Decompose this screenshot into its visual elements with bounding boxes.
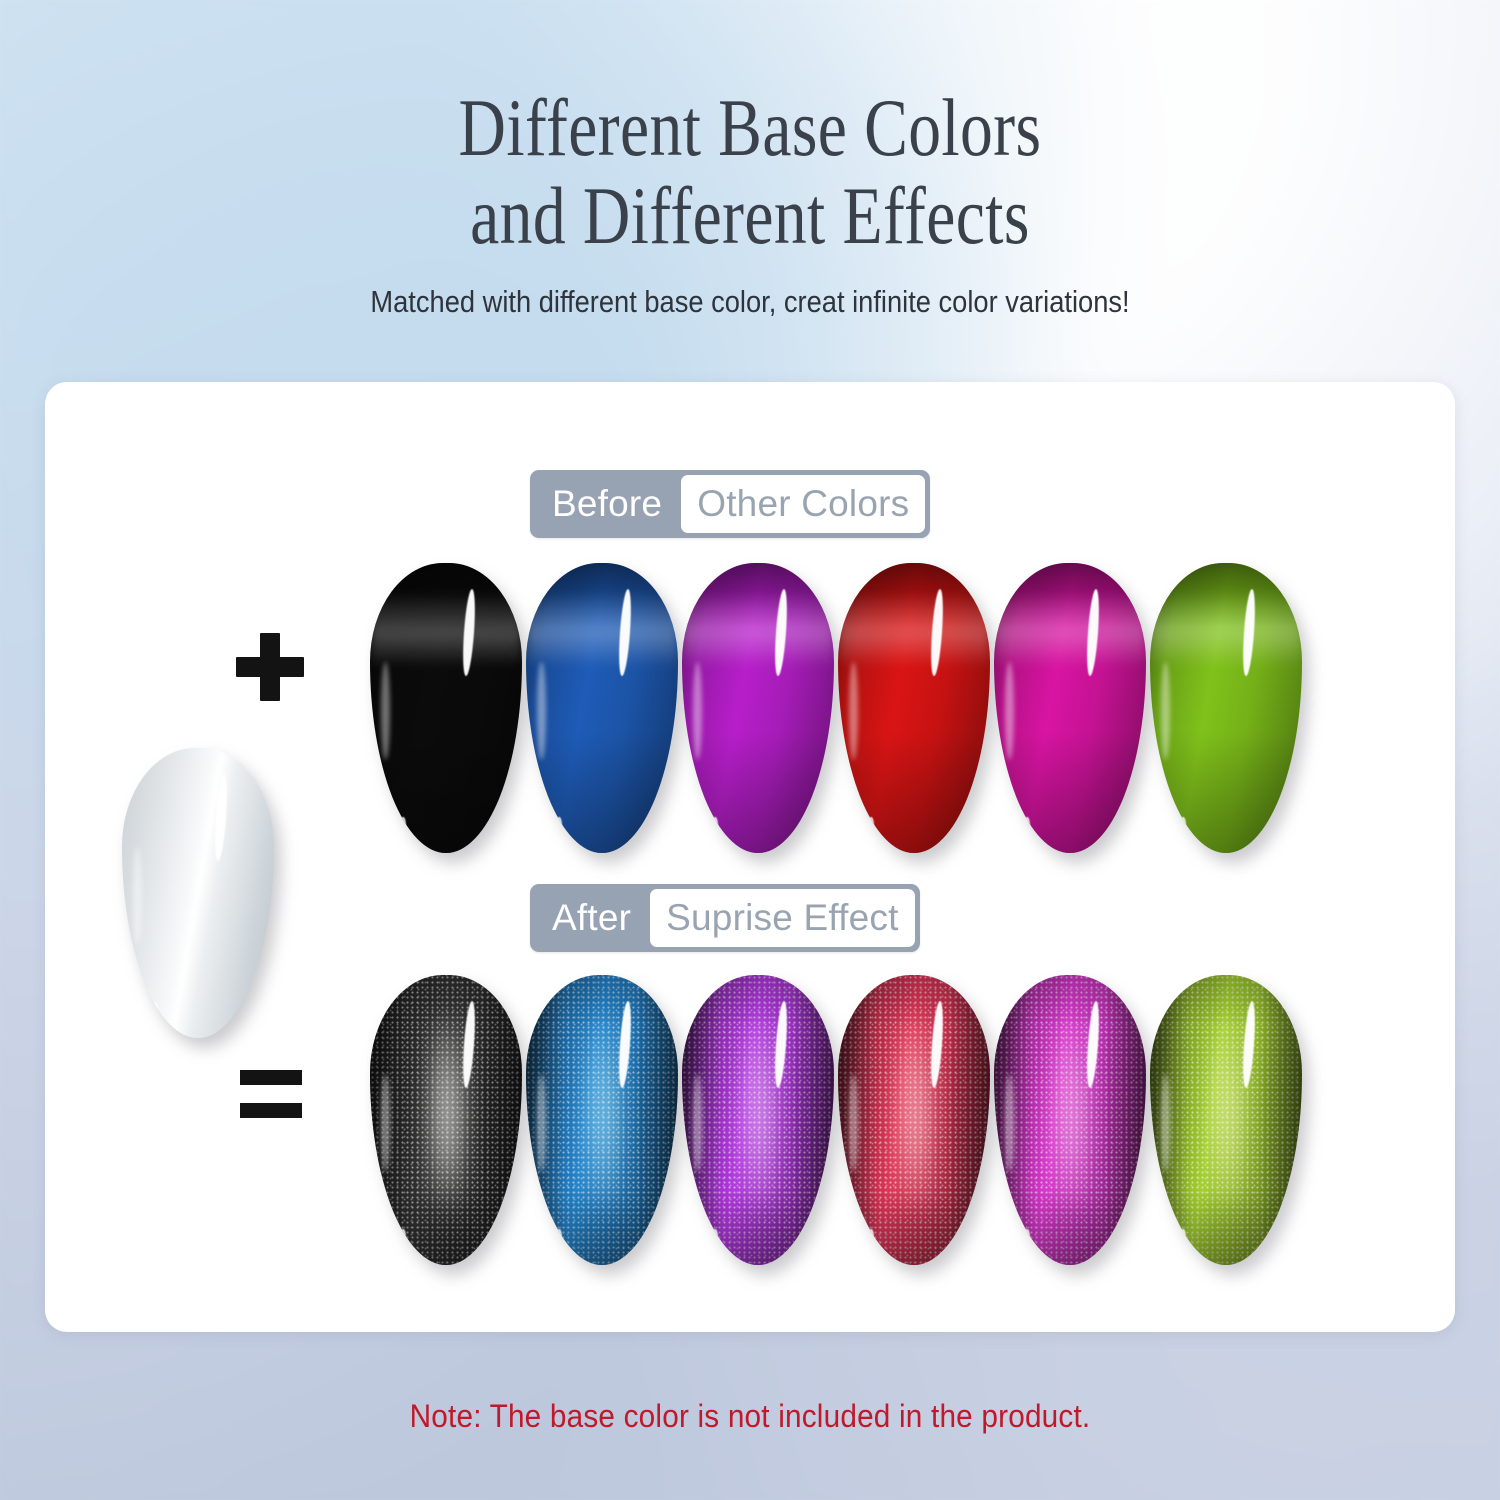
nail-after-green (1150, 975, 1302, 1265)
nail-rim-shade (994, 975, 1146, 1265)
nail-rim-light (849, 662, 858, 761)
nail-rim-light (537, 662, 546, 761)
nail-tip-shade (370, 731, 522, 853)
badge-lead-after: After (530, 884, 650, 952)
nail-tip-shade (526, 731, 678, 853)
nail-after-red (838, 975, 990, 1265)
nail-tip-highlight (152, 1002, 157, 1018)
nail-swatch-silver-base (122, 748, 274, 1038)
nail-rim-light (1005, 662, 1014, 761)
nail-tip-shade (1150, 731, 1302, 853)
plus-operator-icon (236, 632, 306, 702)
nail-tip-shade (994, 731, 1146, 853)
nail-rim-light (849, 1074, 858, 1173)
nail-before-blue (526, 563, 678, 853)
nail-sheen (994, 592, 1146, 667)
nail-sheen (1150, 592, 1302, 667)
nail-rim-shade (370, 975, 522, 1265)
nail-before-purple (682, 563, 834, 853)
nail-rim-shade (526, 975, 678, 1265)
nail-after-blue (526, 975, 678, 1265)
nail-rim-light (537, 1074, 546, 1173)
nail-rim-light (1161, 1074, 1170, 1173)
nail-tip-highlight (556, 1229, 561, 1245)
nail-sheen (838, 592, 990, 667)
nail-after-silver-black (370, 975, 522, 1265)
nail-tip-shade (838, 731, 990, 853)
nail-tip-highlight (712, 1229, 717, 1245)
nail-rim-light (133, 847, 142, 946)
header: Different Base Colors and Different Effe… (0, 0, 1500, 320)
section-badge-after: After Suprise Effect (530, 884, 920, 952)
page-subtitle: Matched with different base color, creat… (90, 284, 1410, 320)
nail-before-green (1150, 563, 1302, 853)
nail-tip-highlight (1024, 817, 1029, 833)
nail-tip-highlight (868, 1229, 873, 1245)
nail-rim-light (1005, 1074, 1014, 1173)
page-title: Different Base Colors and Different Effe… (150, 84, 1350, 260)
nail-rim-shade (838, 975, 990, 1265)
disclaimer-note: Note: The base color is not included in … (53, 1398, 1448, 1435)
nail-rim-shade (682, 975, 834, 1265)
nail-tip-shade (682, 731, 834, 853)
equals-operator-icon (240, 1070, 304, 1124)
nail-rim-light (693, 662, 702, 761)
nail-tip-highlight (712, 817, 717, 833)
nail-tip-highlight (556, 817, 561, 833)
promo-image: Different Base Colors and Different Effe… (0, 0, 1500, 1500)
nail-after-purple (682, 975, 834, 1265)
nail-before-red (838, 563, 990, 853)
nail-rim-light (381, 1074, 390, 1173)
nail-rim-light (1161, 662, 1170, 761)
nail-tip-highlight (1180, 1229, 1185, 1245)
nail-tip-highlight (400, 1229, 405, 1245)
nail-sheen (682, 592, 834, 667)
nail-body (122, 748, 274, 1038)
nail-tip-highlight (1180, 817, 1185, 833)
nail-tip-highlight (868, 817, 873, 833)
nail-before-black (370, 563, 522, 853)
nail-tip-highlight (1024, 1229, 1029, 1245)
nail-rim-shade (1150, 975, 1302, 1265)
badge-pill-after: Suprise Effect (650, 889, 914, 947)
badge-pill-before: Other Colors (681, 475, 925, 533)
badge-lead-before: Before (530, 470, 681, 538)
nail-sheen (370, 592, 522, 667)
nail-before-magenta (994, 563, 1146, 853)
nail-after-magenta (994, 975, 1146, 1265)
nail-rim-light (693, 1074, 702, 1173)
nail-rim-light (381, 662, 390, 761)
nail-sheen (526, 592, 678, 667)
section-badge-before: Before Other Colors (530, 470, 930, 538)
nail-tip-highlight (400, 817, 405, 833)
